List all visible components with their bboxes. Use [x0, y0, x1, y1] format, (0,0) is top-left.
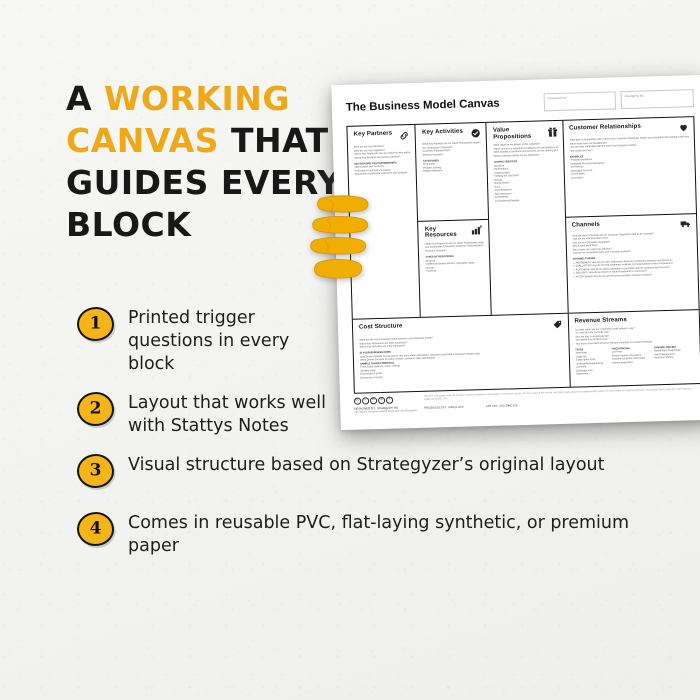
chain-link-icon — [399, 130, 410, 141]
channels-questions: Through which Channels do our Customer S… — [572, 231, 692, 255]
number-badge-2: 2 — [77, 392, 114, 426]
revenue-streams-questions: For what value are our customers really … — [575, 325, 695, 346]
feature-text-4: Comes in reusable PVC, flat-laying synth… — [128, 510, 654, 558]
q-line: Which customer needs are we satisfying? — [494, 153, 558, 158]
headline-line-2: CANVAS THAT — [66, 120, 322, 162]
q-line: Platform/Network — [423, 168, 482, 173]
badge-number-3: 3 — [90, 462, 102, 479]
designed-for-label: Designed for: — [547, 94, 612, 100]
key-activities-questions: What Key Activities do our Value Proposi… — [422, 141, 481, 157]
feature-item-4: 4 Comes in reusable PVC, flat-laying syn… — [74, 510, 654, 558]
channels-sub: CHANNEL PHASES 1. AWARENESS How do we ra… — [573, 254, 693, 278]
feature-text-2: Layout that works well with Stattys Note… — [128, 390, 338, 438]
channels-title: Channels — [572, 221, 600, 228]
badge-number-1: 1 — [90, 315, 102, 332]
feature-item-3: 3 Visual structure based on Strategyzer’… — [74, 452, 654, 496]
number-badge-1: 1 — [77, 307, 114, 341]
customer-relationships-title: Customer Relationships — [569, 124, 641, 133]
headline-text-block: BLOCK — [66, 205, 191, 244]
customer-relationships-head: Customer Relationships — [569, 122, 689, 135]
key-activities-title: Key Activities — [422, 129, 463, 137]
yellow-glove-hand — [300, 186, 374, 292]
canvas-block-value-propositions[interactable]: Value Propositions — [487, 121, 567, 315]
q-line: Real-time-Market — [654, 356, 681, 360]
revenue-streams-columns: TYPES Asset sale Usage fee Subscription … — [575, 345, 695, 376]
headline-line-3: GUIDES EVERY — [66, 162, 322, 204]
feature-text-3: Visual structure based on Strategyzer’s … — [128, 452, 604, 477]
q-line: Advertising — [576, 372, 604, 376]
produced-by-value: stattys.com — [448, 404, 464, 408]
canvas-block-channels[interactable]: Channels Through whi — [566, 213, 699, 313]
designed-for-field[interactable]: Designed for: — [543, 91, 616, 111]
value-propositions-sub: CHARACTERISTICS Newness Performance Cust… — [494, 159, 559, 203]
headline-text-that: THAT — [231, 121, 329, 160]
key-resources-sub: TYPES OF RESOURCES Physical Intellectual… — [426, 254, 485, 273]
canvas-column-value-propositions: Value Propositions — [486, 121, 567, 315]
cost-structure-title: Cost Structure — [359, 323, 403, 331]
headline-line-1: A WORKING — [66, 78, 322, 120]
designed-by-sub: The makers of Business Model Generation … — [354, 409, 417, 414]
canvas-block-cost-structure[interactable]: Cost Structure What are the most importa… — [353, 314, 569, 393]
canvas-title: The Business Model Canvas — [346, 98, 500, 114]
revenue-column-fixed-pricing: FIXED PRICING List Price Product feature… — [612, 346, 646, 375]
q-line: Acquisition of particular resources and … — [355, 171, 412, 176]
canvas-block-revenue-streams[interactable]: Revenue Streams For what value are our c… — [568, 310, 700, 387]
factory-icon — [472, 225, 484, 235]
art-no-value: 001-BMC119 — [500, 403, 518, 407]
q-line: Volume dependent — [612, 360, 645, 364]
feature-badge-wrap-4: 4 — [74, 510, 118, 554]
q-line: Financial — [426, 268, 485, 273]
customer-relationships-sub: EXAMPLES Personal assistance Dedicated P… — [570, 152, 690, 180]
canvas-grid: Key Partners Who are our Key Partners? W… — [346, 116, 700, 394]
headline-text-working: WORKING — [104, 79, 290, 118]
revenue-streams-title: Revenue Streams — [574, 317, 627, 325]
truck-icon — [680, 219, 691, 228]
cost-structure-sub: IS YOUR BUSINESS MORE Cost Driven (leane… — [360, 346, 564, 380]
canvas-header: The Business Model Canvas Designed for: … — [346, 87, 694, 119]
produced-by-label: PRODUCED BY: — [424, 405, 447, 410]
channels-head: Channels — [572, 219, 692, 231]
canvas-footer-left: cc ☉ ↻ $ ⓘ DESIGNED BY: Strategyzer AG T… — [354, 396, 417, 414]
key-partners-sub: MOTIVATIONS FOR PARTNERSHIPS Optimizatio… — [354, 161, 411, 177]
key-partners-head: Key Partners — [354, 130, 411, 143]
produced-by-line: PRODUCED BY: stattys.com — [424, 404, 464, 409]
cc-nd-icon: ⓘ — [386, 397, 393, 404]
key-resources-questions: What Key Resources do our Value Proposit… — [425, 241, 484, 253]
page-root: A WORKING CANVAS THAT GUIDES EVERY BLOCK… — [0, 0, 700, 700]
heart-icon — [678, 122, 688, 132]
cc-icon: cc — [354, 398, 361, 405]
headline: A WORKING CANVAS THAT GUIDES EVERY BLOCK — [66, 78, 322, 246]
key-resources-title: Key Resources — [425, 225, 469, 240]
canvas-column-key-activities-resources: Key Activities What Key Activities do ou… — [415, 123, 491, 317]
price-tag-icon — [551, 319, 562, 330]
badge-number-2: 2 — [90, 400, 102, 417]
value-propositions-questions: What value do we deliver to the customer… — [493, 142, 557, 158]
badge-number-4: 4 — [90, 520, 102, 537]
value-propositions-head: Value Propositions — [493, 126, 557, 141]
art-no-label: ART.NO.: — [486, 403, 499, 407]
cc-by-icon: ☉ — [362, 397, 369, 404]
revenue-column-dynamic-pricing: DYNAMIC PRICING Negotiation (bargaining)… — [654, 345, 681, 374]
key-resources-head: Key Resources — [425, 225, 484, 240]
feature-badge-wrap-3: 3 — [74, 452, 118, 496]
key-partners-questions: Who are our Key Partners? Who are our Ke… — [354, 144, 411, 160]
key-activities-head: Key Activities — [422, 128, 481, 140]
art-no-line: ART.NO.: 001-BMC119 — [486, 403, 518, 408]
cc-sa-icon: ↻ — [370, 397, 377, 404]
number-badge-3: 3 — [77, 454, 114, 488]
canvas-meta-fields: Designed for: Designed by: — [543, 89, 694, 111]
cc-nc-icon: $ — [378, 397, 385, 404]
headline-text-canvas: CANVAS — [66, 121, 231, 160]
canvas-column-cost-structure: Cost Structure What are the most importa… — [353, 314, 569, 393]
key-partners-title: Key Partners — [354, 131, 393, 139]
feature-badge-wrap-2: 2 — [74, 390, 118, 434]
designed-by-label: Designed by: — [625, 92, 690, 98]
check-circle-icon — [471, 128, 481, 138]
number-badge-4: 4 — [77, 512, 114, 546]
headline-text-a: A — [66, 79, 104, 118]
canvas-footer-right: This work is licensed under the Creative… — [424, 388, 700, 409]
gift-icon — [547, 126, 557, 137]
headline-line-4: BLOCK — [66, 204, 322, 246]
designed-by-field[interactable]: Designed by: — [621, 89, 694, 109]
creative-commons-icons: cc ☉ ↻ $ ⓘ — [354, 396, 417, 404]
key-activities-sub: CATEGORIES Production Problem Solving Pl… — [423, 158, 482, 174]
canvas-column-customer-relationships-channels: Customer Relationships What type of rela… — [562, 117, 699, 313]
revenue-column-types: TYPES Asset sale Usage fee Subscription … — [575, 348, 603, 377]
canvas-block-customer-relationships[interactable]: Customer Relationships What type of rela… — [563, 117, 696, 216]
value-propositions-title: Value Propositions — [493, 126, 544, 141]
feature-badge-wrap-1: 1 — [74, 305, 118, 349]
revenue-streams-head: Revenue Streams — [574, 315, 694, 325]
business-model-canvas: The Business Model Canvas Designed for: … — [331, 75, 700, 430]
canvas-column-revenue-streams: Revenue Streams For what value are our c… — [567, 310, 700, 387]
customer-relationships-questions: What type of relationship does each of o… — [569, 135, 689, 152]
canvas-top-row: Key Partners Who are our Key Partners? W… — [347, 117, 698, 319]
canvas-bottom-row: Cost Structure What are the most importa… — [353, 309, 700, 393]
feature-text-1: Printed trigger questions in every block — [128, 305, 338, 376]
canvas-block-key-resources[interactable]: Key Resources — [419, 218, 492, 316]
canvas-block-key-activities[interactable]: Key Activities What Key Activities do ou… — [416, 123, 489, 220]
